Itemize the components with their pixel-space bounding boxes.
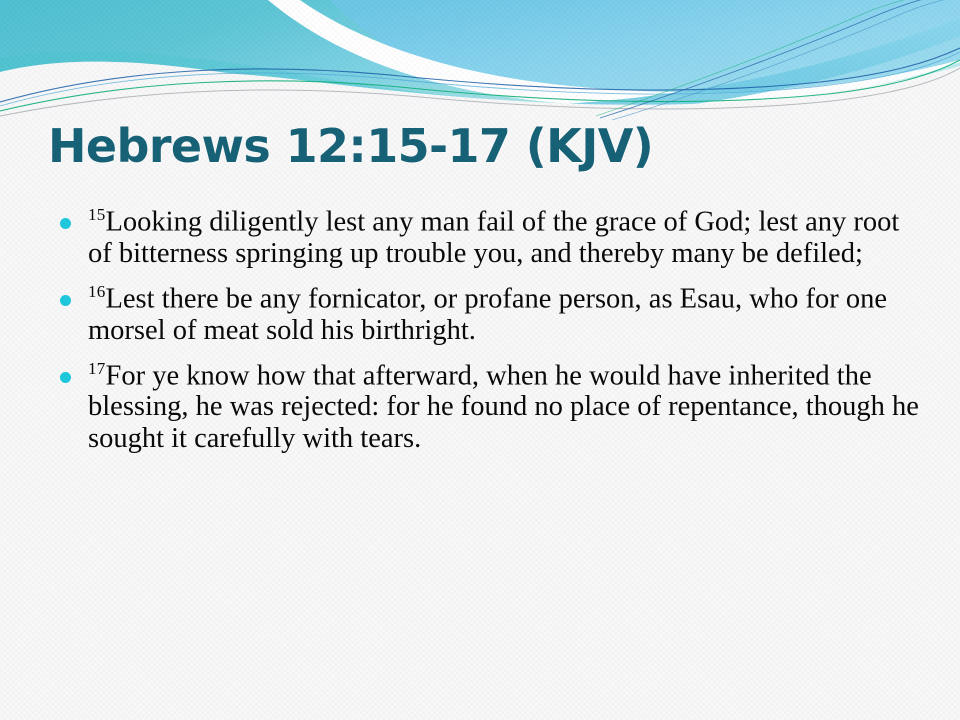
verse-number: 15 xyxy=(88,205,106,224)
verse-number: 17 xyxy=(88,359,106,378)
slide-title: Hebrews 12:15-17 (KJV) xyxy=(48,119,653,173)
slide-body: 15Looking diligently lest any man fail o… xyxy=(52,206,922,454)
decorative-wave-banner xyxy=(0,0,960,120)
bullet-dot-icon xyxy=(60,218,71,229)
bullet-dot-icon xyxy=(60,295,71,306)
bullet-item: 15Looking diligently lest any man fail o… xyxy=(52,206,922,269)
bullet-item: 16Lest there be any fornicator, or profa… xyxy=(52,283,922,346)
bullet-item: 17For ye know how that afterward, when h… xyxy=(52,360,922,454)
verse-text: Looking diligently lest any man fail of … xyxy=(88,206,899,268)
bullet-dot-icon xyxy=(60,372,71,383)
slide-canvas: Hebrews 12:15-17 (KJV) 15Looking diligen… xyxy=(0,0,960,720)
verse-text: Lest there be any fornicator, or profane… xyxy=(88,283,887,345)
verse-number: 16 xyxy=(88,282,106,301)
verse-text: For ye know how that afterward, when he … xyxy=(88,360,919,454)
